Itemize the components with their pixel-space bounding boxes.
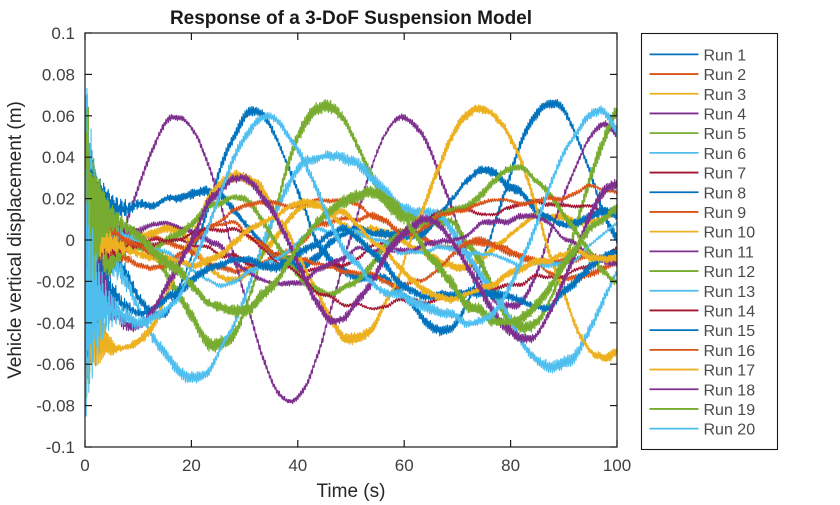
chart-title: Response of a 3-DoF Suspension Model [170, 8, 532, 29]
y-axis-label: Vehicle vertical displacement (m) [5, 101, 26, 379]
plot-area: 020406080100-0.1-0.08-0.06-0.04-0.0200.0… [36, 24, 631, 475]
legend-item-label: Run 10 [704, 225, 756, 242]
legend-item-label: Run 20 [704, 422, 756, 439]
y-tick-label: -0.04 [36, 314, 75, 333]
y-tick-label: 0.08 [42, 65, 75, 84]
x-tick-label: 60 [395, 456, 414, 475]
legend-item-label: Run 4 [704, 106, 747, 123]
y-tick-label: 0 [66, 231, 75, 250]
legend-item-label: Run 17 [704, 363, 756, 380]
x-tick-label: 40 [288, 456, 307, 475]
legend-item-label: Run 14 [704, 303, 756, 320]
legend-item-label: Run 12 [704, 264, 756, 281]
legend-item-label: Run 18 [704, 382, 756, 399]
legend-item-label: Run 3 [704, 87, 747, 104]
legend-item-label: Run 5 [704, 126, 747, 143]
y-tick-label: 0.04 [42, 148, 75, 167]
legend-item-label: Run 8 [704, 185, 747, 202]
legend-item-label: Run 19 [704, 402, 756, 419]
y-tick-label: 0.06 [42, 107, 75, 126]
legend[interactable]: Run 1Run 2Run 3Run 4Run 5Run 6Run 7Run 8… [642, 34, 778, 450]
x-tick-label: 20 [182, 456, 201, 475]
legend-item-label: Run 11 [704, 244, 755, 261]
x-tick-label: 100 [603, 456, 631, 475]
legend-item-label: Run 13 [704, 284, 756, 301]
y-tick-label: -0.06 [36, 355, 75, 374]
x-tick-label: 0 [80, 456, 89, 475]
legend-item-label: Run 15 [704, 323, 756, 340]
legend-item-label: Run 2 [704, 67, 747, 84]
chart-canvas: Response of a 3-DoF Suspension Model 020… [0, 0, 840, 505]
y-tick-label: -0.1 [46, 438, 75, 457]
y-tick-label: -0.02 [36, 272, 75, 291]
y-tick-label: 0.02 [42, 190, 75, 209]
x-axis-label: Time (s) [317, 481, 386, 502]
x-tick-label: 80 [501, 456, 520, 475]
legend-item-label: Run 9 [704, 205, 747, 222]
legend-item-label: Run 7 [704, 166, 747, 183]
legend-item-label: Run 1 [704, 47, 747, 64]
y-tick-label: 0.1 [51, 24, 75, 43]
legend-item-label: Run 6 [704, 146, 747, 163]
figure-container: Response of a 3-DoF Suspension Model 020… [0, 0, 840, 505]
y-tick-label: -0.08 [36, 397, 75, 416]
legend-item-label: Run 16 [704, 343, 756, 360]
